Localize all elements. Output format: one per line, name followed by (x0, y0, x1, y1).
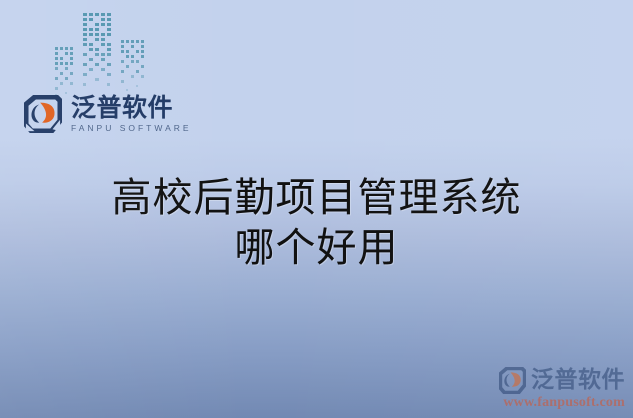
watermark: 泛普软件 www.fanpusoft.com (499, 367, 625, 410)
watermark-brand-name: 泛普软件 (531, 369, 625, 392)
watermark-url: www.fanpusoft.com (503, 396, 625, 410)
watermark-logo-row: 泛普软件 (499, 367, 625, 394)
brand-wordmark: 泛普软件 FANPU SOFTWARE (71, 95, 192, 133)
brand-name-en: FANPU SOFTWARE (71, 124, 192, 133)
page-title: 高校后勤项目管理系统 哪个好用 (0, 176, 633, 271)
fanpu-logo-mark-watermark-icon (499, 367, 526, 394)
promo-banner: 泛普软件 FANPU SOFTWARE 高校后勤项目管理系统 哪个好用 泛普软件… (0, 0, 633, 418)
page-title-line-1: 高校后勤项目管理系统 (0, 176, 633, 222)
fanpu-logo-mark-icon (24, 95, 62, 133)
page-title-line-2: 哪个好用 (0, 226, 633, 272)
brand-name-cn: 泛普软件 (71, 95, 192, 120)
brand-logo-lockup: 泛普软件 FANPU SOFTWARE (24, 95, 192, 133)
pixel-city-skyline-icon (52, 6, 156, 100)
